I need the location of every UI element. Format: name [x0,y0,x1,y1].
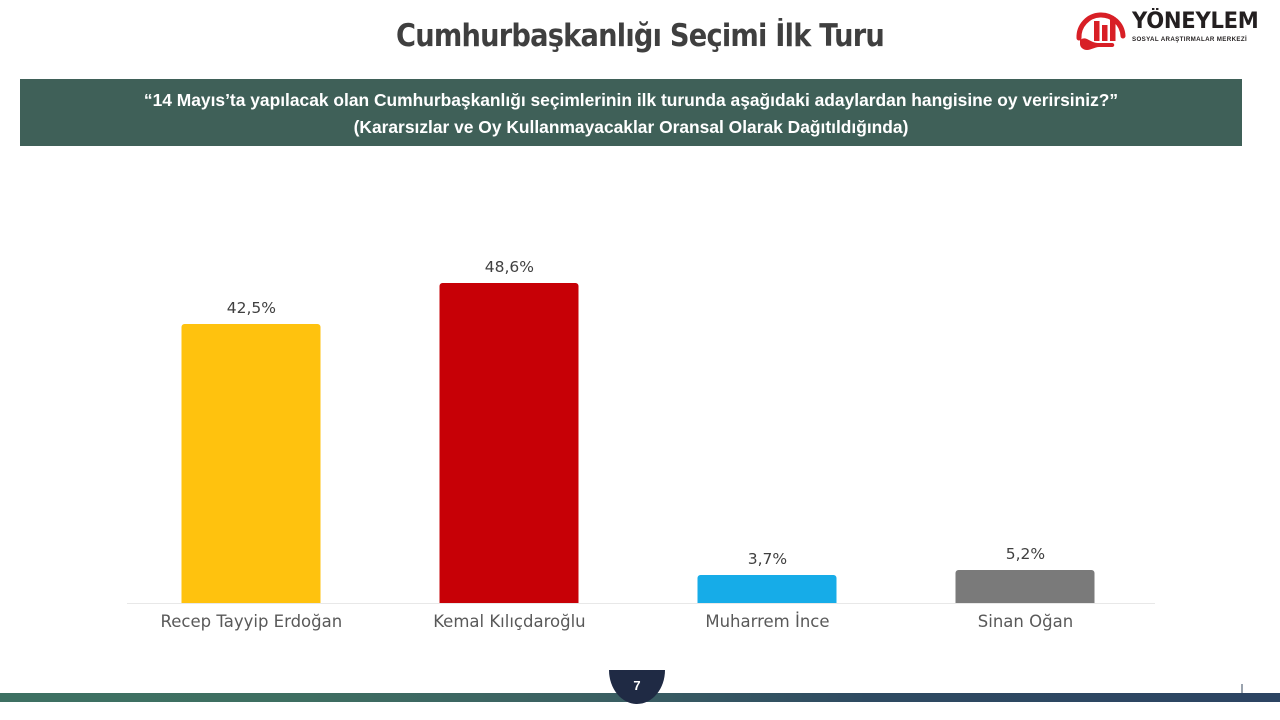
x-axis-line [127,603,1155,604]
plot-area: 42,5%Recep Tayyip Erdoğan48,6%Kemal Kılı… [127,160,1155,603]
category-label: Sinan Oğan [978,612,1073,631]
logo-subtitle: SOSYAL ARAŞTIRMALAR MERKEZİ [1132,36,1272,43]
brand-logo: YÖNEYLEM SOSYAL ARAŞTIRMALAR MERKEZİ [1066,4,1272,62]
bar-value-label: 48,6% [485,258,534,276]
bar-value-label: 3,7% [748,550,787,568]
bar-value-label: 5,2% [1006,545,1045,563]
bar-1 [182,324,321,603]
bar-2 [440,283,579,603]
logo-name: YÖNEYLEM [1132,10,1266,34]
page-title: Cumhurbaşkanlığı Seçimi İlk Turu [77,18,1203,54]
bar-group: 42,5%Recep Tayyip Erdoğan [162,160,341,603]
category-label: Kemal Kılıçdaroğlu [433,612,585,631]
bar-3 [698,575,837,603]
bar-group: 5,2%Sinan Oğan [936,160,1115,603]
question-banner: “14 Mayıs’ta yapılacak olan Cumhurbaşkan… [20,79,1242,146]
category-label: Muharrem İnce [705,612,829,631]
logo-text: YÖNEYLEM SOSYAL ARAŞTIRMALAR MERKEZİ [1132,10,1272,43]
page-number: 7 [633,679,640,696]
footer-tick-mark [1241,684,1243,693]
question-line-1: “14 Mayıs’ta yapılacak olan Cumhurbaşkan… [144,87,1118,114]
hand-holding-bar-chart-icon [1074,8,1130,58]
bar-group: 48,6%Kemal Kılıçdaroğlu [420,160,599,603]
bar-chart: 42,5%Recep Tayyip Erdoğan48,6%Kemal Kılı… [0,160,1280,660]
question-line-2: (Kararsızlar ve Oy Kullanmayacaklar Oran… [354,114,909,141]
bar-group: 3,7%Muharrem İnce [678,160,857,603]
category-label: Recep Tayyip Erdoğan [161,612,343,631]
bar-4 [956,570,1095,603]
bar-value-label: 42,5% [227,299,276,317]
